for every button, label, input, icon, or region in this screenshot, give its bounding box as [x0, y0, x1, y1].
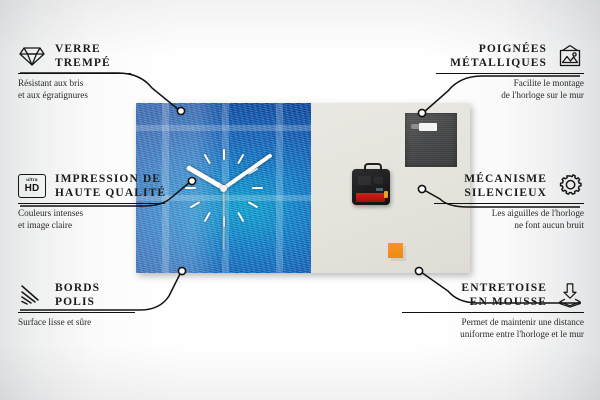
callout-impression-haute-qualite: ultra HD IMPRESSION DE HAUTE QUALITÉ Cou…: [18, 172, 166, 231]
down-arrow-stack-icon: [556, 282, 584, 308]
callout-description: Les aiguilles de l'horloge ne font aucun…: [434, 208, 584, 231]
callout-title: ENTRETOISE EN MOUSSE: [461, 281, 547, 309]
callout-title: BORDS POLIS: [55, 281, 100, 309]
callout-header: MÉCANISME SILENCIEUX: [434, 172, 584, 200]
ultra-hd-icon: ultra HD: [18, 174, 46, 198]
callout-verre-trempe: VERRE TREMPÉ Résistant aux bris et aux é…: [18, 42, 131, 101]
product-image: [136, 103, 470, 273]
callout-header: ENTRETOISE EN MOUSSE: [402, 281, 584, 309]
callout-rule: [18, 203, 165, 204]
metal-hanger-plate: [405, 113, 457, 167]
polished-edges-icon: [18, 283, 46, 307]
mechanism-label: [376, 188, 383, 191]
gear-icon: [556, 173, 584, 199]
callout-header: ultra HD IMPRESSION DE HAUTE QUALITÉ: [18, 172, 166, 200]
foam-spacer: [388, 243, 403, 258]
grid-line-horizontal: [136, 125, 311, 131]
callout-entretoise-en-mousse: ENTRETOISE EN MOUSSE Permet de maintenir…: [402, 281, 584, 340]
hands-center-cap: [220, 185, 227, 192]
callout-description: Couleurs intenses et image claire: [18, 208, 166, 231]
callout-description: Facilite le montage de l'horloge sur le …: [436, 78, 584, 101]
mechanism-detail: [374, 177, 383, 184]
quartz-mechanism: [352, 169, 390, 205]
mechanism-detail: [358, 176, 371, 185]
mechanism-hook: [364, 163, 382, 173]
callout-title: POIGNÉES MÉTALLIQUES: [450, 42, 547, 70]
framed-picture-hook-icon: [556, 44, 584, 68]
callout-rule: [18, 312, 135, 313]
battery-terminal: [384, 191, 388, 198]
callout-header: VERRE TREMPÉ: [18, 42, 131, 70]
callout-rule: [18, 73, 131, 74]
callout-header: POIGNÉES MÉTALLIQUES: [436, 42, 584, 70]
callout-rule: [434, 203, 584, 204]
callout-rule: [436, 73, 584, 74]
second-hand: [223, 188, 224, 250]
callout-title: VERRE TREMPÉ: [55, 42, 111, 70]
callout-description: Résistant aux bris et aux égratignures: [18, 78, 131, 101]
battery: [356, 193, 385, 202]
callout-header: BORDS POLIS: [18, 281, 135, 309]
callout-title: MÉCANISME SILENCIEUX: [464, 172, 547, 200]
hanger-slot: [419, 123, 437, 131]
callout-poignees-metalliques: POIGNÉES MÉTALLIQUES Facilite le montage…: [436, 42, 584, 101]
callout-description: Surface lisse et sûre: [18, 317, 135, 329]
callout-rule: [402, 312, 584, 313]
callout-description: Permet de maintenir une distance uniform…: [402, 317, 584, 340]
infographic-canvas: VERRE TREMPÉ Résistant aux bris et aux é…: [0, 0, 600, 400]
diamond-icon: [18, 44, 46, 68]
callout-bords-polis: BORDS POLIS Surface lisse et sûre: [18, 281, 135, 329]
callout-title: IMPRESSION DE HAUTE QUALITÉ: [55, 172, 166, 200]
callout-mecanisme-silencieux: MÉCANISME SILENCIEUX Les aiguilles de l'…: [434, 172, 584, 231]
